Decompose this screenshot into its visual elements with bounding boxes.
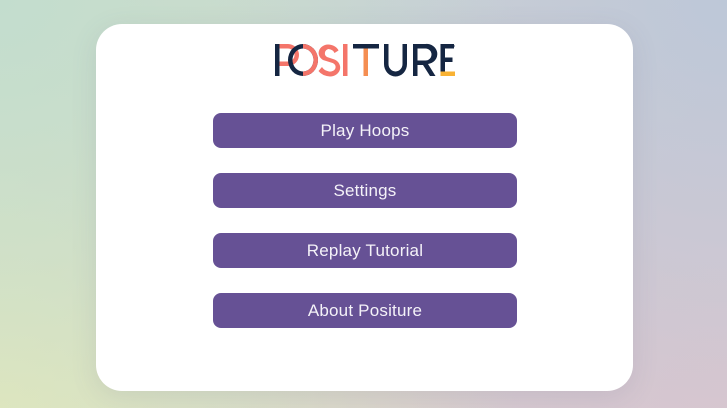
- positure-logotype-svg: [275, 42, 455, 82]
- main-menu-card: Play Hoops Settings Replay Tutorial Abou…: [96, 24, 633, 391]
- logo-letter-t: [353, 44, 379, 76]
- replay-tutorial-button-label: Replay Tutorial: [307, 242, 423, 259]
- logo-letter-s: [318, 45, 340, 77]
- about-positure-button[interactable]: About Positure: [213, 293, 517, 328]
- menu-button-list: Play Hoops Settings Replay Tutorial Abou…: [213, 113, 517, 328]
- app-root: Play Hoops Settings Replay Tutorial Abou…: [0, 0, 727, 408]
- logo-letter-u: [384, 44, 407, 77]
- logo-letter-r: [413, 44, 437, 76]
- logo-letter-o: [288, 44, 318, 76]
- logo-letter-i: [343, 44, 348, 76]
- about-positure-button-label: About Positure: [308, 302, 422, 319]
- replay-tutorial-button[interactable]: Replay Tutorial: [213, 233, 517, 268]
- logo-letter-e: [440, 44, 455, 76]
- app-logo: [96, 42, 633, 82]
- play-hoops-button-label: Play Hoops: [321, 122, 410, 139]
- settings-button[interactable]: Settings: [213, 173, 517, 208]
- settings-button-label: Settings: [333, 182, 396, 199]
- play-hoops-button[interactable]: Play Hoops: [213, 113, 517, 148]
- trademark-icon: [451, 45, 454, 48]
